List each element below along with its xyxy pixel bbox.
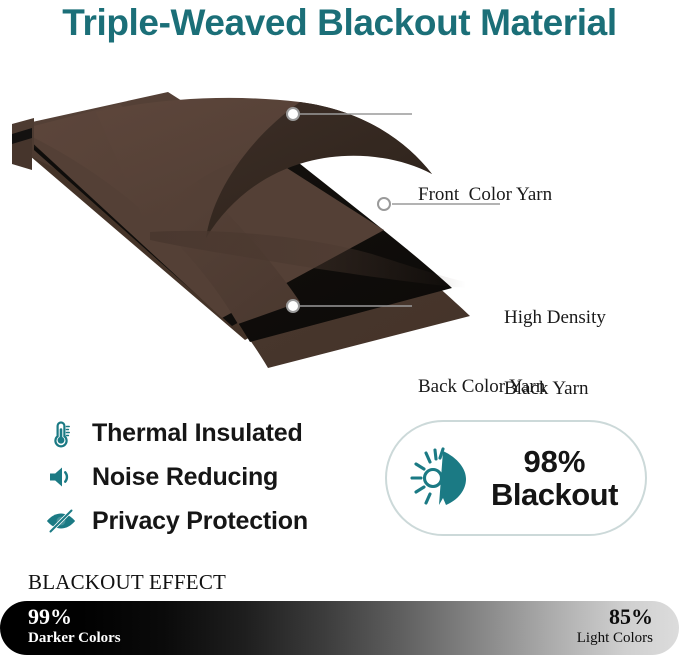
- blackout-effect-gradient-bar: 99% Darker Colors 85% Light Colors: [0, 601, 679, 655]
- sun-rays: [412, 449, 443, 503]
- feature-noise-reducing: Noise Reducing: [44, 455, 374, 499]
- infographic-page: Triple-Weaved Blackout Material: [0, 0, 679, 655]
- blackout-word: Blackout: [491, 478, 618, 511]
- page-title: Triple-Weaved Blackout Material: [0, 2, 679, 44]
- feature-list: Thermal Insulated Noise Reducing Pri: [44, 411, 374, 543]
- blackout-percentage-badge: 98% Blackout: [385, 420, 647, 536]
- eye-off-icon: [44, 504, 78, 538]
- light-colors-percent: 85%: [577, 605, 653, 630]
- sun-blocked-icon: [409, 445, 475, 511]
- feature-privacy-protection: Privacy Protection: [44, 499, 374, 543]
- speaker-sound-icon: [44, 460, 78, 494]
- curtain-block: [439, 451, 466, 505]
- feature-label-privacy-protection: Privacy Protection: [92, 507, 308, 536]
- marker-high-density-black-yarn: [378, 198, 390, 210]
- gradient-bar-left-stat: 99% Darker Colors: [28, 605, 121, 646]
- blackout-badge-text: 98% Blackout: [491, 445, 618, 512]
- label-front-color-yarn: Front Color Yarn: [418, 183, 552, 207]
- darker-colors-label: Darker Colors: [28, 630, 121, 647]
- marker-front-color-yarn: [287, 108, 299, 120]
- thermometer-icon: [44, 416, 78, 450]
- gradient-bar-right-stat: 85% Light Colors: [577, 605, 653, 646]
- label-high-density-line1: High Density: [504, 306, 606, 330]
- darker-colors-percent: 99%: [28, 605, 121, 630]
- marker-back-color-yarn: [287, 300, 299, 312]
- blackout-effect-heading: BLACKOUT EFFECT: [28, 570, 226, 595]
- blackout-percent: 98%: [491, 445, 618, 478]
- fabric-layer-diagram: Front Color Yarn High Density Black Yarn…: [0, 78, 679, 368]
- feature-label-thermal-insulated: Thermal Insulated: [92, 419, 303, 448]
- light-colors-label: Light Colors: [577, 630, 653, 647]
- sun-disc: [425, 470, 442, 487]
- label-back-color-yarn: Back Color Yarn: [418, 375, 545, 399]
- feature-label-noise-reducing: Noise Reducing: [92, 463, 278, 492]
- feature-thermal-insulated: Thermal Insulated: [44, 411, 374, 455]
